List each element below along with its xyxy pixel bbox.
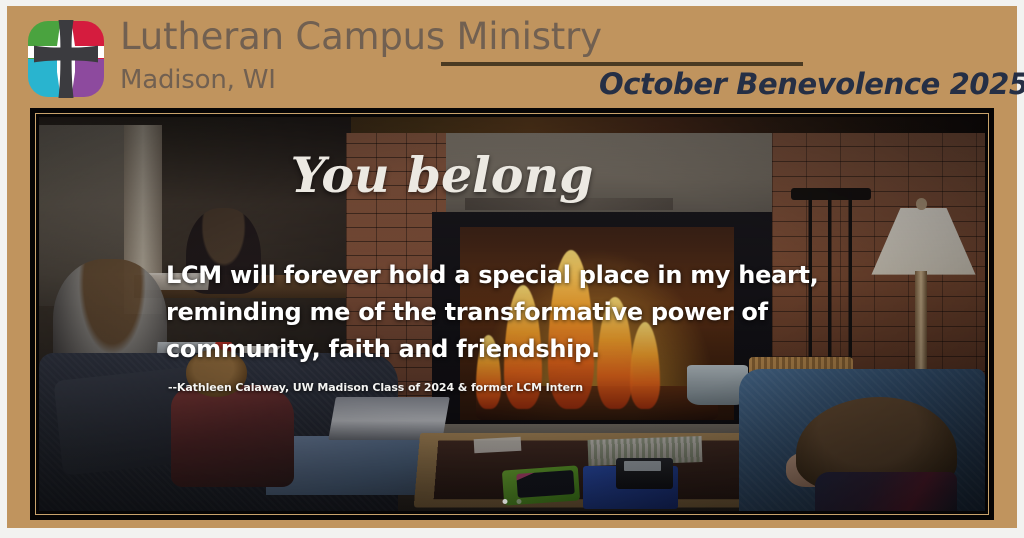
headline: You belong: [39, 147, 985, 203]
slideshow-dot-active[interactable]: [503, 499, 508, 504]
org-city: Madison, WI: [120, 64, 602, 96]
header: Lutheran Campus Ministry Madison, WI Oct…: [7, 6, 1017, 108]
slideshow-dot[interactable]: [517, 499, 522, 504]
newsletter-poster: Lutheran Campus Ministry Madison, WI Oct…: [0, 0, 1024, 538]
testimonial-quote: LCM will forever hold a special place in…: [166, 257, 866, 368]
org-identity: Lutheran Campus Ministry Madison, WI: [120, 15, 602, 96]
photo-text-overlay: You belong LCM will forever hold a speci…: [39, 117, 985, 511]
org-name: Lutheran Campus Ministry: [120, 15, 602, 59]
lounge-photo: You belong LCM will forever hold a speci…: [39, 117, 985, 511]
lcm-cross-logo-icon: [25, 18, 107, 100]
issue-title: October Benevolence 2025: [599, 67, 1024, 101]
header-divider-rule: [441, 62, 803, 66]
photo-frame: You belong LCM will forever hold a speci…: [30, 108, 994, 520]
quote-attribution: --Kathleen Calaway, UW Madison Class of …: [168, 381, 583, 395]
slideshow-dots[interactable]: [503, 499, 522, 504]
